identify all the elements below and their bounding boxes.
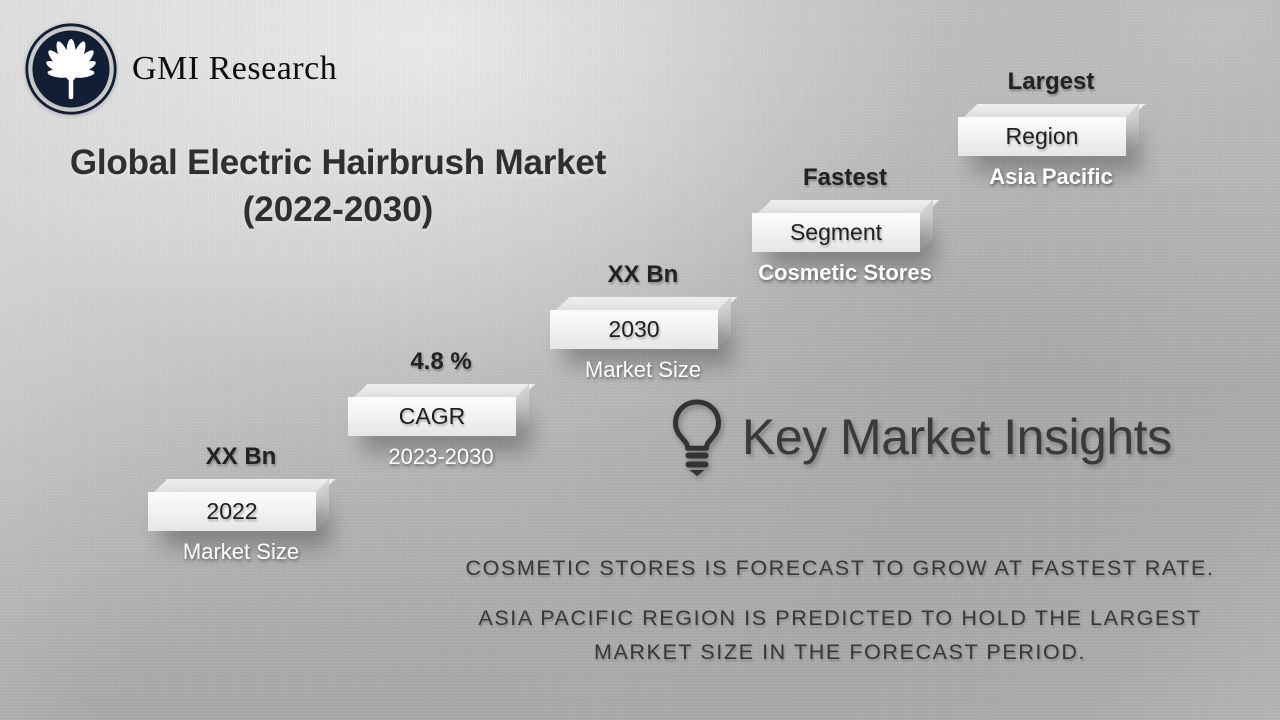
insights-text-group: COSMETIC STORES IS FORECAST TO GROW AT F… — [400, 552, 1280, 670]
slab-label: 2022 — [206, 498, 257, 525]
step-bottom-label: Market Size — [148, 539, 334, 565]
insight-line-3: MARKET SIZE IN THE FORECAST PERIOD. — [400, 636, 1280, 670]
step-top-label: 4.8 % — [348, 348, 534, 376]
step-slab: Segment — [752, 200, 938, 252]
step-slab: 2030 — [550, 297, 736, 349]
insight-spacer — [400, 586, 1280, 602]
title-line-2: (2022-2030) — [18, 187, 658, 234]
step-bottom-label: Asia Pacific — [958, 164, 1144, 190]
brand-name: GMI Research — [132, 50, 337, 88]
step-slab: Region — [958, 104, 1144, 156]
step-bottom-label: 2023-2030 — [348, 444, 534, 470]
slab-front-face: 2022 — [148, 492, 316, 531]
slab-top-face — [354, 384, 535, 397]
gmi-palm-logo-icon — [24, 22, 118, 116]
slab-top-face — [154, 479, 335, 492]
key-market-insights-header: Key Market Insights — [668, 398, 1172, 476]
slab-front-face: Region — [958, 117, 1126, 156]
slab-front-face: CAGR — [348, 397, 516, 436]
step-top-label: Largest — [958, 68, 1144, 96]
slab-top-face — [964, 104, 1145, 117]
slab-label: CAGR — [399, 403, 465, 430]
step-bottom-label: Market Size — [550, 357, 736, 383]
slab-top-face — [758, 200, 939, 213]
key-market-insights-title: Key Market Insights — [742, 408, 1172, 466]
slab-label: 2030 — [608, 316, 659, 343]
step-slab: 2022 — [148, 479, 334, 531]
infographic-canvas: GMI Research Global Electric Hairbrush M… — [0, 0, 1280, 720]
slab-front-face: Segment — [752, 213, 920, 252]
brand-logo: GMI Research — [24, 22, 337, 116]
page-title: Global Electric Hairbrush Market (2022-2… — [18, 140, 658, 233]
slab-front-face: 2030 — [550, 310, 718, 349]
step-top-label: XX Bn — [148, 443, 334, 471]
insight-line-2: ASIA PACIFIC REGION IS PREDICTED TO HOLD… — [400, 602, 1280, 636]
insight-line-1: COSMETIC STORES IS FORECAST TO GROW AT F… — [400, 552, 1280, 586]
step-slab: CAGR — [348, 384, 534, 436]
step-bottom-label: Cosmetic Stores — [752, 260, 938, 286]
slab-label: Segment — [790, 219, 882, 246]
lightbulb-icon — [668, 398, 726, 476]
title-line-1: Global Electric Hairbrush Market — [18, 140, 658, 187]
slab-top-face — [556, 297, 737, 310]
step-top-label: XX Bn — [550, 261, 736, 289]
step-top-label: Fastest — [752, 164, 938, 192]
slab-label: Region — [1006, 123, 1079, 150]
